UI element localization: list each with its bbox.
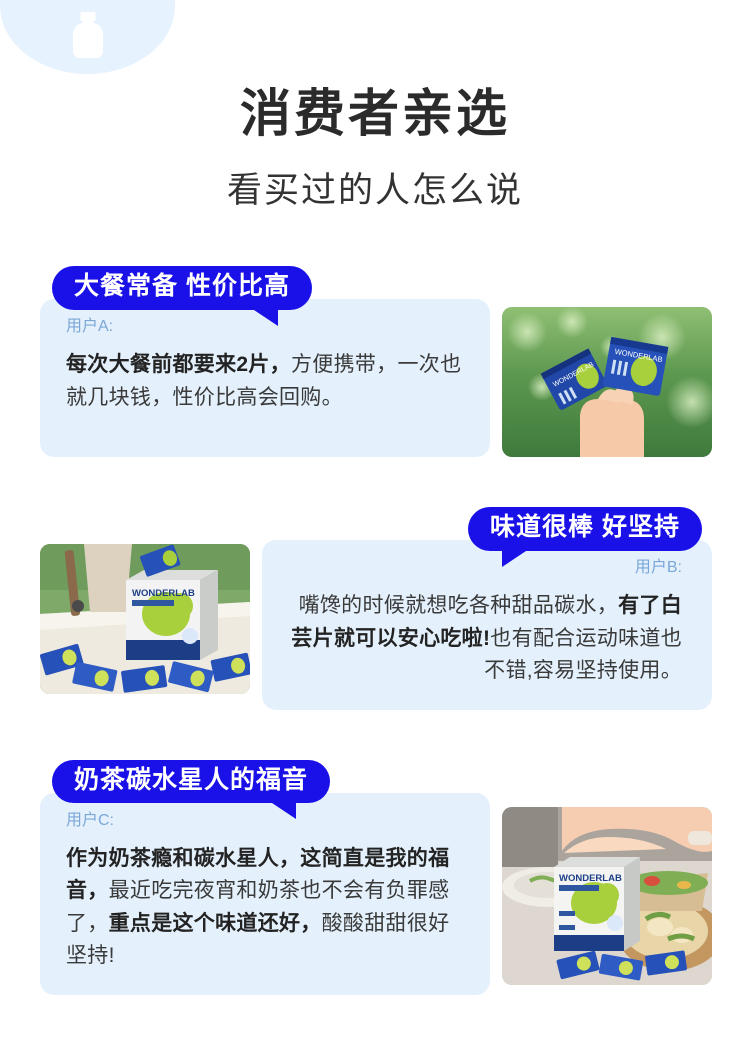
quote-c-line1-bold: 作为奶茶瘾和碳水星人，这简直是我的 <box>66 847 428 870</box>
quote-text-b: 嘴馋的时候就想吃各种甜品碳水，有了白芸片就可以安心吃啦!也有配合运动味道也不错,… <box>288 590 682 688</box>
bottle-body <box>73 23 103 58</box>
bottle-icon <box>73 12 103 58</box>
testimonial-item-c: 奶茶碳水星人的福音 用户C: 作为奶茶瘾和碳水星人，这简直是我的福音，最近吃完夜… <box>0 760 750 995</box>
card-row-a: 用户A: 每次大餐前都要来2片，方便携带，一次也就几块钱，性价比高会回购。 <box>0 299 750 457</box>
testimonial-badge-c: 奶茶碳水星人的福音 <box>52 760 330 804</box>
quote-card-c: 用户C: 作为奶茶瘾和碳水星人，这简直是我的福音，最近吃完夜宵和奶茶也不会有负罪… <box>40 793 490 995</box>
badge-label-c: 奶茶碳水星人的福音 <box>74 766 308 794</box>
user-label-b: 用户B: <box>288 560 682 576</box>
badge-tail-icon-a <box>240 306 278 326</box>
testimonial-item-b: 味道很棒 好坚持 <box>0 507 750 710</box>
badge-tail-icon-c <box>258 799 296 819</box>
photo-hand-reaching-box: WONDERLAB <box>502 807 712 985</box>
quote-text-a: 每次大餐前都要来2片，方便携带，一次也就几块钱，性价比高会回购。 <box>66 349 464 414</box>
photo-product-box-outdoor: WONDERLAB <box>40 544 250 694</box>
quote-b-line2-plain: 也有配合运动 <box>490 627 618 650</box>
card-row-b: WONDERLAB <box>0 540 750 710</box>
svg-text:WONDERLAB: WONDERLAB <box>559 873 622 884</box>
quote-card-b: 用户B: 嘴馋的时候就想吃各种甜品碳水，有了白芸片就可以安心吃啦!也有配合运动味… <box>262 540 712 710</box>
badge-row-c: 奶茶碳水星人的福音 <box>0 760 750 802</box>
card-row-c: 用户C: 作为奶茶瘾和碳水星人，这简直是我的福音，最近吃完夜宵和奶茶也不会有负罪… <box>0 793 750 995</box>
photo-hand-holding-sachets: WONDERLAB WONDERLAB <box>502 307 712 457</box>
quote-bold-a: 每次大餐前都要来2片， <box>66 353 291 376</box>
page-title: 消费者亲选 <box>0 88 750 139</box>
testimonial-list: 大餐常备 性价比高 用户A: 每次大餐前都要来2片，方便携带，一次也就几块钱，性… <box>0 266 750 995</box>
quote-b-line1-plain: 嘴馋的时候就想吃各种甜品碳水， <box>299 594 619 617</box>
badge-row-b: 味道很棒 好坚持 <box>0 507 750 549</box>
quote-c-line2-plain: 最近吃完夜宵和奶茶也不会有负 <box>109 879 407 902</box>
photo-b-graphic: WONDERLAB <box>40 544 250 694</box>
testimonial-item-a: 大餐常备 性价比高 用户A: 每次大餐前都要来2片，方便携带，一次也就几块钱，性… <box>0 266 750 457</box>
page-subtitle: 看买过的人怎么说 <box>0 173 750 208</box>
photo-a-graphic: WONDERLAB WONDERLAB <box>502 307 712 457</box>
decorative-bottle-tab <box>0 0 175 74</box>
svg-text:WONDERLAB: WONDERLAB <box>132 588 195 599</box>
badge-label-b: 味道很棒 好坚持 <box>490 513 680 541</box>
badge-tail-icon-b <box>502 547 540 567</box>
badge-label-a: 大餐常备 性价比高 <box>74 272 290 300</box>
quote-c-line3-bold: 重点是这个味道还好， <box>109 912 322 935</box>
testimonial-badge-a: 大餐常备 性价比高 <box>52 266 312 310</box>
quote-text-c: 作为奶茶瘾和碳水星人，这简直是我的福音，最近吃完夜宵和奶茶也不会有负罪感了，重点… <box>66 843 464 973</box>
testimonial-badge-b: 味道很棒 好坚持 <box>468 507 702 551</box>
quote-b-line1-bold: 有了 <box>618 594 661 617</box>
photo-c-graphic: WONDERLAB <box>502 807 712 985</box>
quote-c-line3-plain2: 酸酸甜 <box>322 912 386 935</box>
badge-row-a: 大餐常备 性价比高 <box>0 266 750 308</box>
